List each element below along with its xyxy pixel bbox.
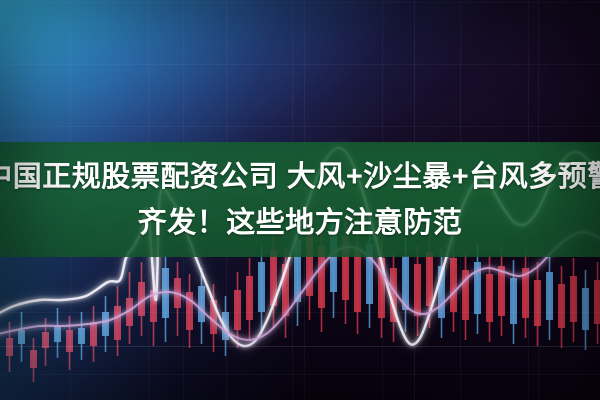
- headline-line-1: 中国正规股票配资公司 大风+沙尘暴+台风多预警: [0, 155, 600, 199]
- headline-line-2: 齐发！这些地方注意防范: [138, 201, 463, 245]
- headline-text-block: 中国正规股票配资公司 大风+沙尘暴+台风多预警 齐发！这些地方注意防范: [0, 142, 600, 257]
- article-thumbnail: 中国正规股票配资公司 大风+沙尘暴+台风多预警 齐发！这些地方注意防范: [0, 0, 600, 400]
